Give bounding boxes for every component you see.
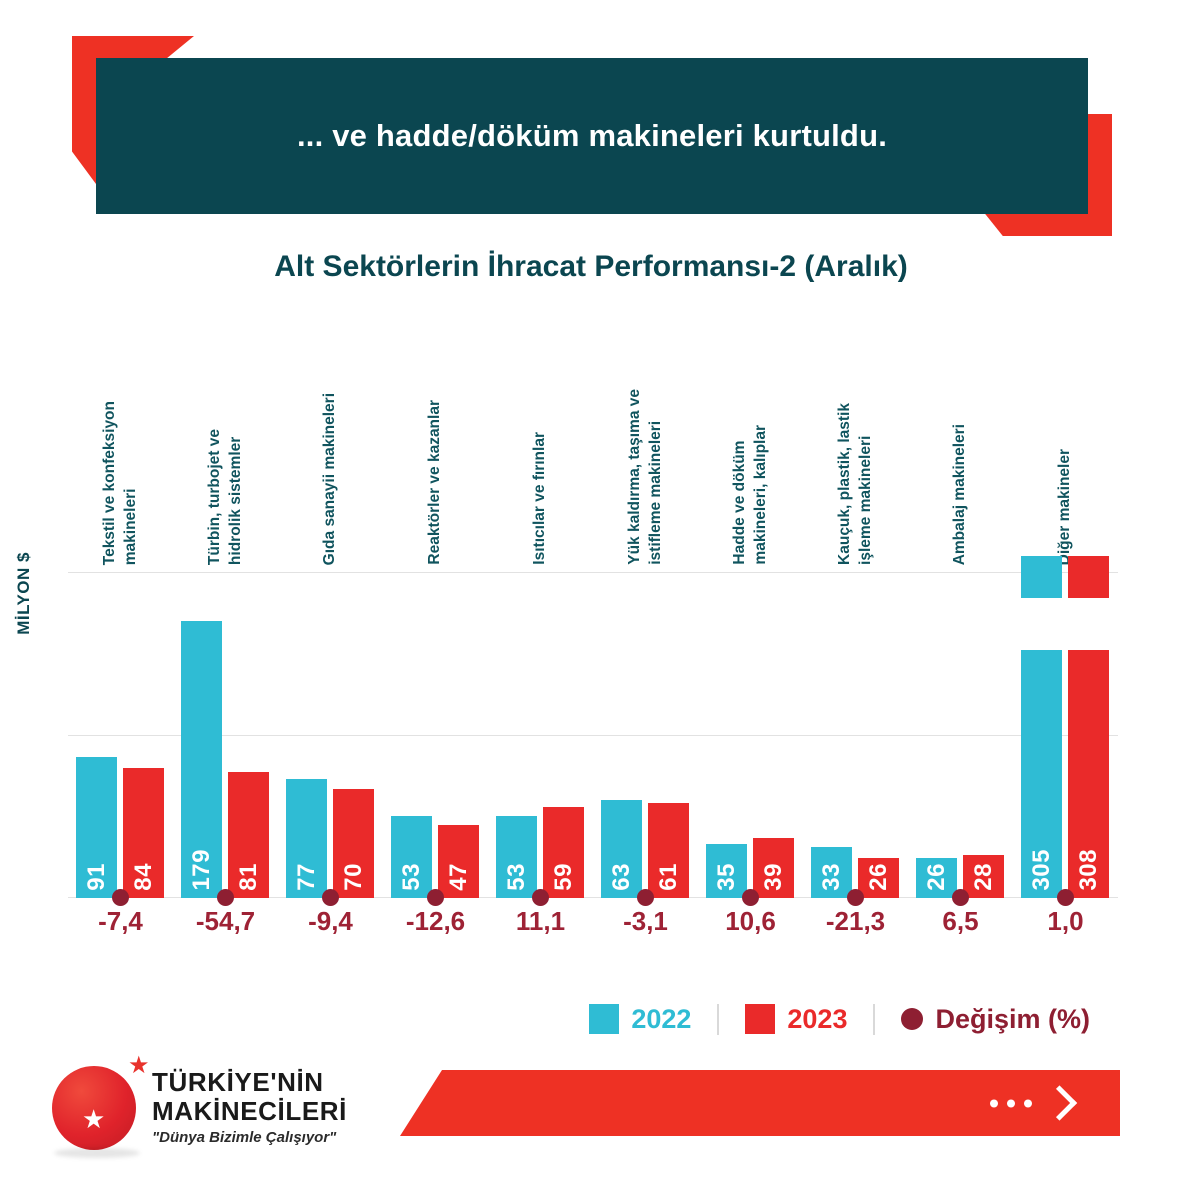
change-value: 10,6: [698, 906, 803, 937]
bar-group: 2628: [908, 572, 1013, 898]
legend-label: 2022: [631, 1004, 691, 1035]
legend-circle-icon: [901, 1008, 923, 1030]
bar-group: 6361: [593, 572, 698, 898]
star-icon-large: ★: [82, 1106, 105, 1132]
bar-group: 5359: [488, 572, 593, 898]
bar-2023: 47: [438, 825, 479, 898]
change-value: -21,3: [803, 906, 908, 937]
bar-2022: 53: [496, 816, 537, 898]
bar-value-label: 35: [713, 863, 741, 891]
category-label-cell: Isıtıcılar ve fırınlar: [488, 300, 593, 565]
bar-value-label: 91: [83, 863, 111, 891]
bar-2023: 308: [1068, 650, 1109, 898]
y-axis-label: MİLYON $: [14, 552, 34, 635]
bar-value-label: 70: [340, 863, 368, 891]
change-marker-dot: [217, 889, 234, 906]
dot-2-icon: [1007, 1099, 1015, 1107]
category-label: Türbin, turbojet ve hidrolik sistemler: [205, 429, 247, 565]
category-label: Diğer makineler: [1055, 449, 1076, 565]
bar-cap-2022: [1021, 556, 1062, 598]
bar-2022: 77: [286, 779, 327, 898]
change-marker-dot: [322, 889, 339, 906]
change-value: -12,6: [383, 906, 488, 937]
legend-label: 2023: [787, 1004, 847, 1035]
change-marker-dot: [847, 889, 864, 906]
logo-shadow: [54, 1148, 140, 1158]
bar-2022: 33: [811, 847, 852, 898]
category-label: Ambalaj makineleri: [950, 424, 971, 565]
star-icon-small: ★: [128, 1054, 150, 1078]
bar-2023: 39: [753, 838, 794, 898]
chevron-right-icon: [1042, 1085, 1077, 1120]
bar-2023: 84: [123, 768, 164, 898]
bar-2022: 26: [916, 858, 957, 898]
bar-2022: 53: [391, 816, 432, 898]
bar-value-label: 53: [503, 863, 531, 891]
header-block: ... ve hadde/döküm makineleri kurtuldu.: [72, 36, 1112, 236]
bar-value-label: 59: [550, 863, 578, 891]
change-value: -54,7: [173, 906, 278, 937]
logo-text: TÜRKİYE'NİN MAKİNECİLERİ "Dünya Bizimle …: [152, 1068, 347, 1146]
bar-2023: 70: [333, 789, 374, 898]
change-marker-dot: [637, 889, 654, 906]
change-value: 1,0: [1013, 906, 1118, 937]
logo-line-1: TÜRKİYE'NİN: [152, 1068, 347, 1097]
change-marker-dot: [427, 889, 444, 906]
category-label-band: Tekstil ve konfeksiyon makineleriTürbin,…: [68, 300, 1118, 565]
bar-value-label: 81: [235, 863, 263, 891]
category-label-cell: Diğer makineler: [1013, 300, 1118, 565]
logo-tagline: "Dünya Bizimle Çalışıyor": [152, 1129, 347, 1146]
category-label: Gıda sanayii makineleri: [320, 393, 341, 565]
category-label-cell: Tekstil ve konfeksiyon makineleri: [68, 300, 173, 565]
bar-cap-2023: [1068, 556, 1109, 598]
bar-2022: 305: [1021, 650, 1062, 898]
category-label-cell: Hadde ve döküm makineleri, kalıplar: [698, 300, 803, 565]
chart-legend: 20222023Değişim (%): [563, 996, 1116, 1042]
category-label-cell: Türbin, turbojet ve hidrolik sistemler: [173, 300, 278, 565]
logo-line-2: MAKİNECİLERİ: [152, 1097, 347, 1126]
header-banner: ... ve hadde/döküm makineleri kurtuldu.: [96, 58, 1088, 214]
bar-2023: 26: [858, 858, 899, 898]
change-marker-dot: [742, 889, 759, 906]
change-values-row: -7,4-54,7-9,4-12,611,1-3,110,6-21,36,51,…: [68, 906, 1118, 954]
bar-2022: 35: [706, 844, 747, 898]
dot-3-icon: [1024, 1099, 1032, 1107]
change-value: -7,4: [68, 906, 173, 937]
bar-value-label: 77: [293, 863, 321, 891]
bar-group: 5347: [383, 572, 488, 898]
change-marker-dot: [1057, 889, 1074, 906]
category-label-cell: Reaktörler ve kazanlar: [383, 300, 488, 565]
bar-value-label: 61: [655, 863, 683, 891]
change-value: -3,1: [593, 906, 698, 937]
bar-group: 3326: [803, 572, 908, 898]
bar-2022: 91: [76, 757, 117, 898]
bar-value-label: 305: [1028, 849, 1056, 891]
category-label-cell: Ambalaj makineleri: [908, 300, 1013, 565]
bar-value-label: 26: [923, 863, 951, 891]
bar-2022: 179: [181, 621, 222, 898]
bar-value-label: 84: [130, 863, 158, 891]
category-label: Yük kaldırma, taşıma ve istifleme makine…: [625, 389, 667, 565]
bar-value-label: 53: [398, 863, 426, 891]
bar-value-label: 33: [818, 863, 846, 891]
header-title: ... ve hadde/döküm makineleri kurtuldu.: [297, 118, 887, 154]
chart-title: Alt Sektörlerin İhracat Performansı-2 (A…: [0, 250, 1182, 284]
category-label: Hadde ve döküm makineleri, kalıplar: [730, 425, 772, 565]
category-label-cell: Gıda sanayii makineleri: [278, 300, 383, 565]
legend-swatch-icon: [745, 1004, 775, 1034]
legend-label: Değişim (%): [935, 1004, 1090, 1035]
bar-2023: 28: [963, 855, 1004, 898]
bar-value-label: 308: [1075, 849, 1103, 891]
plot-area: 9184179817770534753596361353933262628305…: [68, 572, 1118, 898]
footer-banner[interactable]: [400, 1070, 1120, 1136]
logo-circle-icon: ★: [52, 1066, 136, 1150]
bar-2023: 59: [543, 807, 584, 898]
legend-swatch-icon: [589, 1004, 619, 1034]
category-label: Isıtıcılar ve fırınlar: [530, 432, 551, 565]
bar-group: 17981: [173, 572, 278, 898]
bar-value-label: 47: [445, 863, 473, 891]
bar-group: 305308: [1013, 572, 1118, 898]
dot-1-icon: [990, 1099, 998, 1107]
change-value: 6,5: [908, 906, 1013, 937]
bar-group: 3539: [698, 572, 803, 898]
category-label-cell: Kauçuk, plastik, lastik işleme makineler…: [803, 300, 908, 565]
bar-group: 9184: [68, 572, 173, 898]
category-label: Reaktörler ve kazanlar: [425, 400, 446, 565]
bar-value-label: 179: [188, 849, 216, 891]
change-value: -9,4: [278, 906, 383, 937]
bar-value-label: 39: [760, 863, 788, 891]
change-marker-dot: [532, 889, 549, 906]
category-label: Kauçuk, plastik, lastik işleme makineler…: [835, 403, 877, 565]
change-value: 11,1: [488, 906, 593, 937]
change-marker-dot: [112, 889, 129, 906]
legend-item-de-i-im[interactable]: Değişim (%): [873, 1004, 1116, 1035]
bar-2022: 63: [601, 800, 642, 898]
footer: ★ ★ TÜRKİYE'NİN MAKİNECİLERİ "Dünya Bizi…: [0, 1042, 1182, 1182]
bar-value-label: 28: [970, 863, 998, 891]
bar-group: 7770: [278, 572, 383, 898]
change-marker-dot: [952, 889, 969, 906]
legend-item-2023[interactable]: 2023: [717, 1004, 873, 1035]
legend-item-2022[interactable]: 2022: [563, 1004, 717, 1035]
next-arrow-icon[interactable]: [990, 1091, 1072, 1116]
bar-2023: 81: [228, 772, 269, 898]
bar-value-label: 63: [608, 863, 636, 891]
category-label: Tekstil ve konfeksiyon makineleri: [100, 401, 142, 565]
brand-logo: ★ ★ TÜRKİYE'NİN MAKİNECİLERİ "Dünya Bizi…: [52, 1056, 372, 1160]
bar-value-label: 26: [865, 863, 893, 891]
bar-2023: 61: [648, 803, 689, 898]
bar-chart: Tekstil ve konfeksiyon makineleriTürbin,…: [68, 300, 1118, 960]
category-label-cell: Yük kaldırma, taşıma ve istifleme makine…: [593, 300, 698, 565]
